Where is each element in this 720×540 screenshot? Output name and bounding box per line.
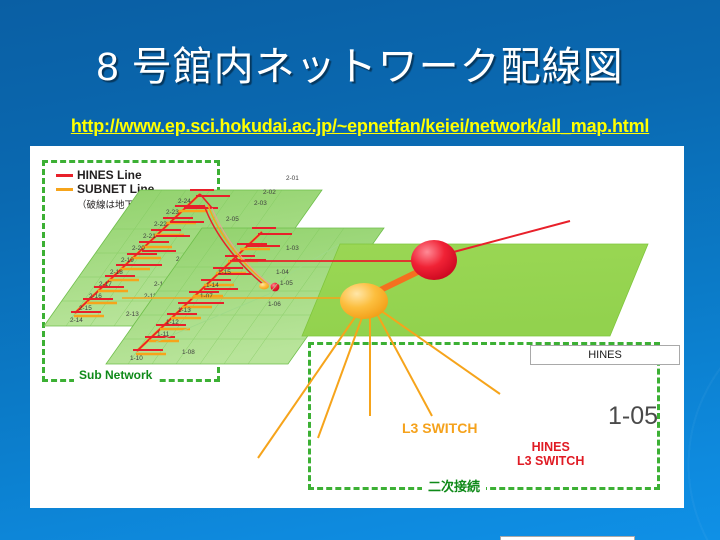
callout-hines[interactable]: HINES — [530, 345, 680, 365]
svg-text:2-14: 2-14 — [70, 317, 83, 324]
svg-text:1-14: 1-14 — [206, 282, 219, 289]
svg-text:2-21: 2-21 — [143, 233, 156, 240]
svg-text:1-05: 1-05 — [280, 280, 293, 287]
slide-canvas: 8 号館内ネットワーク配線図 http://www.ep.sci.hokudai… — [0, 0, 720, 540]
svg-text:2-05: 2-05 — [226, 216, 239, 223]
svg-text:2-18: 2-18 — [110, 269, 123, 276]
hines-l3-switch-label: HINES L3 SWITCH — [517, 440, 584, 468]
svg-text:2-22: 2-22 — [154, 221, 167, 228]
svg-text:2-01: 2-01 — [286, 175, 299, 182]
building-floor-diagram: 2-14 2-15 2-16 2-17 2-18 2-19 2-20 2-21 … — [30, 146, 684, 508]
svg-text:1-07: 1-07 — [200, 293, 213, 300]
svg-text:2-23: 2-23 — [166, 209, 179, 216]
hines-l3-switch-label-line2: L3 SWITCH — [517, 454, 584, 468]
svg-text:1-15: 1-15 — [218, 269, 231, 276]
svg-text:1-13: 1-13 — [178, 307, 191, 314]
callout-jgn-north[interactable]: JGN（NORTH 接続） — [500, 536, 635, 540]
l3-switch-node — [340, 283, 388, 319]
svg-text:1-06: 1-06 — [268, 301, 281, 308]
svg-text:2-20: 2-20 — [132, 245, 145, 252]
svg-text:2-17: 2-17 — [99, 281, 112, 288]
svg-text:1-08: 1-08 — [182, 349, 195, 356]
hines-l3-switch-node — [411, 240, 457, 280]
l3-switch-label: L3 SWITCH — [402, 420, 477, 436]
svg-text:1-12: 1-12 — [166, 319, 179, 326]
main-room-label: 1-05 — [608, 402, 658, 431]
svg-text:2-13: 2-13 — [126, 311, 139, 318]
svg-text:2-16: 2-16 — [89, 293, 102, 300]
svg-text:2-02: 2-02 — [263, 189, 276, 196]
svg-text:2-24: 2-24 — [178, 198, 191, 205]
svg-text:1-03: 1-03 — [286, 245, 299, 252]
svg-text:2-15: 2-15 — [79, 305, 92, 312]
svg-text:2-19: 2-19 — [121, 257, 134, 264]
network-diagram-panel: Sub Network 二次接続 HINES Line SUBNET Line … — [30, 146, 684, 508]
network-map-url-link[interactable]: http://www.ep.sci.hokudai.ac.jp/~epnetfa… — [0, 116, 720, 137]
svg-text:1-10: 1-10 — [130, 355, 143, 362]
page-title: 8 号館内ネットワーク配線図 — [0, 34, 720, 92]
hines-l3-switch-label-line1: HINES — [517, 440, 584, 454]
svg-text:2-03: 2-03 — [254, 200, 267, 207]
